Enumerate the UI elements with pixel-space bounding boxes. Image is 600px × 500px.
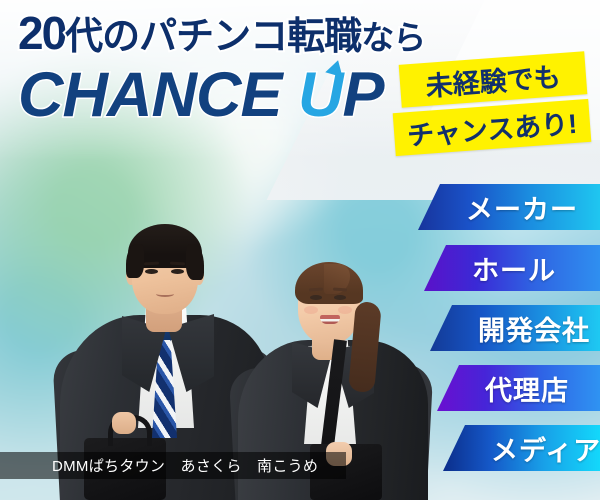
headline: 20代のパチンコ転職なら [18,10,425,56]
man-eye-left [145,269,158,274]
woman-smile [320,315,340,324]
woman-eye-left [310,295,322,300]
woman-eye-right [334,295,346,300]
logo-letter-p: P [343,60,384,130]
woman-blush-right [338,306,352,314]
man-hand [112,412,136,434]
category-button-media[interactable]: メディア [443,425,600,471]
category-button-maker[interactable]: メーカー [418,184,600,230]
man-eye-right [171,269,184,274]
headline-tail: なら [361,19,425,56]
man-hair-side-left [126,244,144,278]
logo-chance-up: CHANCE UP [18,64,384,127]
credit-strip: DMMぱちタウン あさくら 南こうめ [0,452,346,479]
banner-root: 20代のパチンコ転職なら CHANCE UP 未経験でも チャンスあり! メーカ… [0,0,600,500]
category-button-hall[interactable]: ホール [424,245,600,291]
woman-blush-left [304,306,318,314]
headline-main: 代のパチンコ転職 [65,16,361,58]
man-mouth [156,291,174,297]
headline-number: 20 [18,7,65,59]
logo-word-chance: CHANCE [18,60,282,130]
credit-text: DMMぱちタウン あさくら 南こうめ [52,455,318,476]
category-button-developer[interactable]: 開発会社 [430,305,600,351]
category-button-agency[interactable]: 代理店 [437,365,600,411]
logo-letter-u-arrow: U [298,64,343,127]
